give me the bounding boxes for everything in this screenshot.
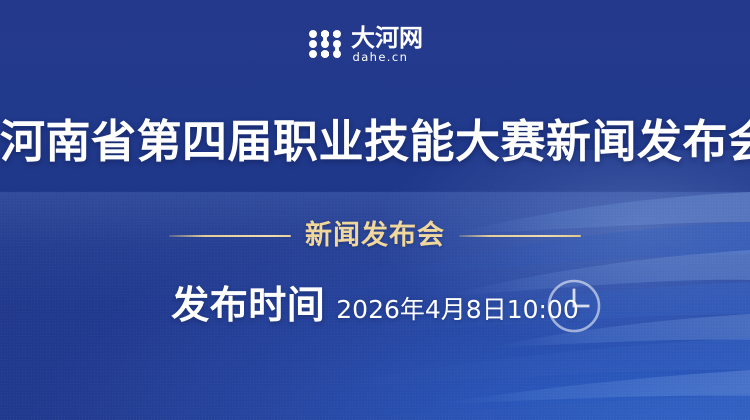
poster-subtitle: 新闻发布会 bbox=[305, 222, 445, 249]
poster-title: 河南省第四届职业技能大赛新闻发布会 bbox=[0, 119, 750, 164]
logo-wordmark-cn: 大河网 bbox=[351, 24, 443, 51]
logo-wordmark-en: dahe.cn bbox=[353, 52, 409, 64]
news-conference-poster: 大河网 dahe.cn 河南省第四届职业技能大赛新闻发布会 新闻发布会 发布时间… bbox=[0, 0, 750, 420]
dahe-dot-grid-logo-icon bbox=[308, 29, 342, 59]
release-time-value: 2026年4月8日10:00 bbox=[336, 297, 578, 322]
logo-wordmark-cn-text: 大河网 bbox=[351, 24, 423, 51]
subtitle-row: 新闻发布会 bbox=[0, 222, 750, 249]
release-time-label: 发布时间 bbox=[171, 286, 325, 324]
decorative-rule-right bbox=[459, 235, 581, 237]
release-time-row: 发布时间 2026年4月8日10:00 bbox=[0, 286, 750, 324]
decorative-rule-left bbox=[169, 235, 291, 237]
site-logo[interactable]: 大河网 dahe.cn bbox=[0, 24, 750, 64]
